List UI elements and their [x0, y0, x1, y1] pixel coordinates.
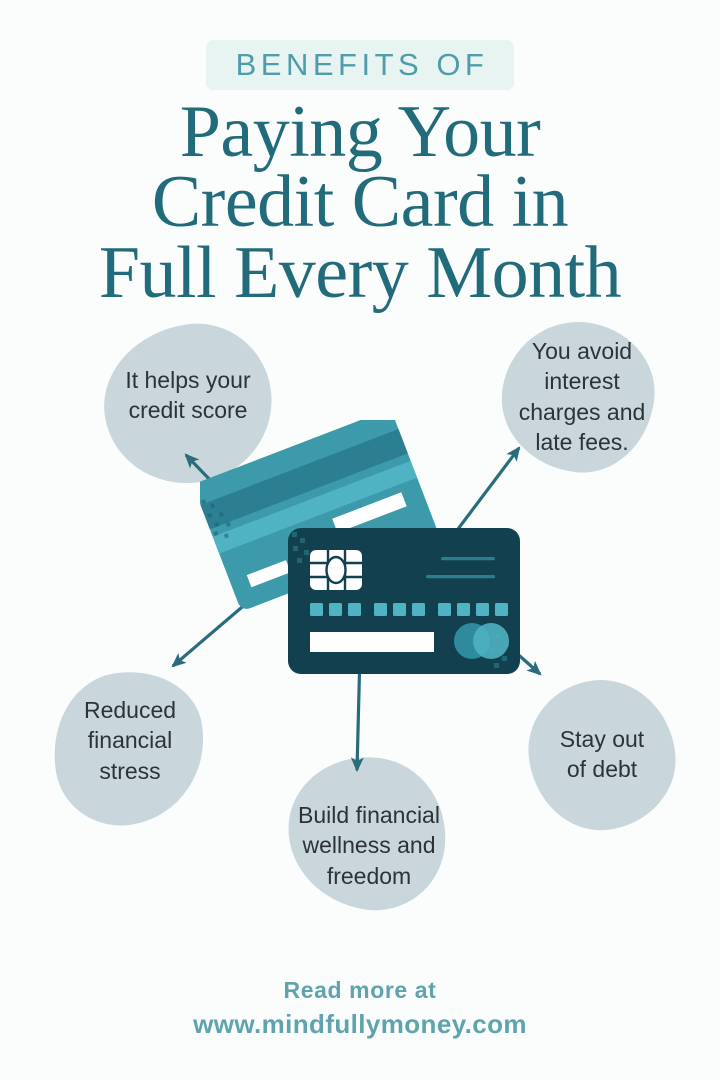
eyebrow-container: BENEFITS OF: [0, 40, 720, 90]
benefit-label-interest-charges: You avoid interest charges and late fees…: [490, 336, 674, 457]
page-title-line-2: Credit Card in: [0, 167, 720, 237]
page-title-line-3: Full Every Month: [0, 238, 720, 308]
credit-cards-illustration: [200, 420, 540, 690]
benefit-label-out-of-debt: Stay out of debt: [522, 724, 682, 785]
eyebrow-badge: BENEFITS OF: [206, 40, 515, 90]
emv-chip-icon: [310, 550, 362, 590]
benefit-label-credit-score: It helps your credit score: [78, 365, 298, 426]
benefit-label-financial-wellness: Build financial wellness and freedom: [265, 800, 473, 891]
footer-read-more: Read more at: [0, 975, 720, 1007]
footer: Read more at www.mindfullymoney.com: [0, 975, 720, 1043]
infographic-page: BENEFITS OF Paying Your Credit Card in F…: [0, 0, 720, 1080]
footer-website[interactable]: www.mindfullymoney.com: [0, 1007, 720, 1043]
front-credit-card: [288, 528, 520, 674]
front-card-name-strip: [310, 632, 434, 652]
page-title-line-1: Paying Your: [0, 97, 720, 167]
two-circles-payment-logo-icon: [454, 623, 509, 659]
page-title: Paying Your Credit Card in Full Every Mo…: [0, 97, 720, 308]
benefit-label-reduced-stress: Reduced financial stress: [44, 695, 216, 786]
